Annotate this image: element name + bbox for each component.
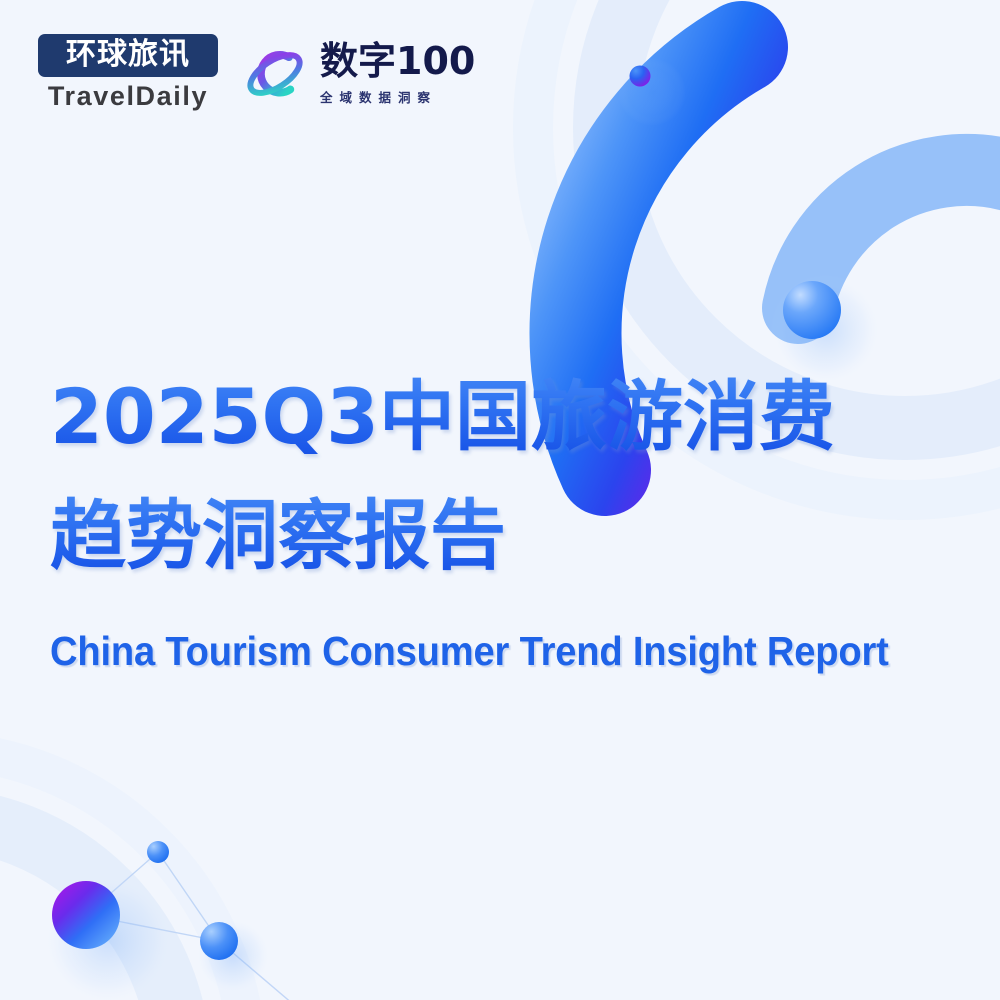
title-line-2: 趋势洞察报告 (50, 477, 835, 596)
page-subtitle: China Tourism Consumer Trend Insight Rep… (50, 628, 889, 675)
shuzi100-brand: 数字100 (320, 42, 475, 80)
medium-blue-sphere (200, 922, 238, 960)
large-purple-blue-sphere (52, 881, 120, 949)
small-blue-sphere (147, 841, 169, 863)
sphere-glow (618, 58, 686, 126)
header-logos: 环球旅讯 TravelDaily (38, 34, 475, 112)
shuzi100-tagline: 全域数据洞察 (320, 87, 475, 106)
traveldaily-badge: 环球旅讯 (38, 34, 218, 77)
light-blue-arc-top-right (798, 170, 1000, 308)
report-cover-poster: 环球旅讯 TravelDaily (0, 0, 1000, 1000)
page-title: 2025Q3中国旅游消费 趋势洞察报告 (50, 358, 835, 595)
traveldaily-logo[interactable]: 环球旅讯 TravelDaily (38, 34, 218, 112)
blue-sphere (783, 281, 841, 339)
title-line-1: 2025Q3中国旅游消费 (50, 358, 835, 477)
small-gradient-sphere (630, 66, 651, 87)
network-lines (86, 852, 300, 1000)
medium-sphere-glow (195, 918, 271, 994)
orbit-swirl-icon (240, 39, 310, 109)
faint-arc-bottom-left (0, 818, 180, 1000)
traveldaily-wordmark: TravelDaily (38, 82, 218, 112)
traveldaily-badge-text: 环球旅讯 (47, 39, 209, 71)
faint-arc-bottom-left-2 (0, 750, 248, 1000)
large-sphere-glow (42, 874, 174, 1000)
shuzi100-logo[interactable]: 数字100 全域数据洞察 (240, 39, 475, 109)
